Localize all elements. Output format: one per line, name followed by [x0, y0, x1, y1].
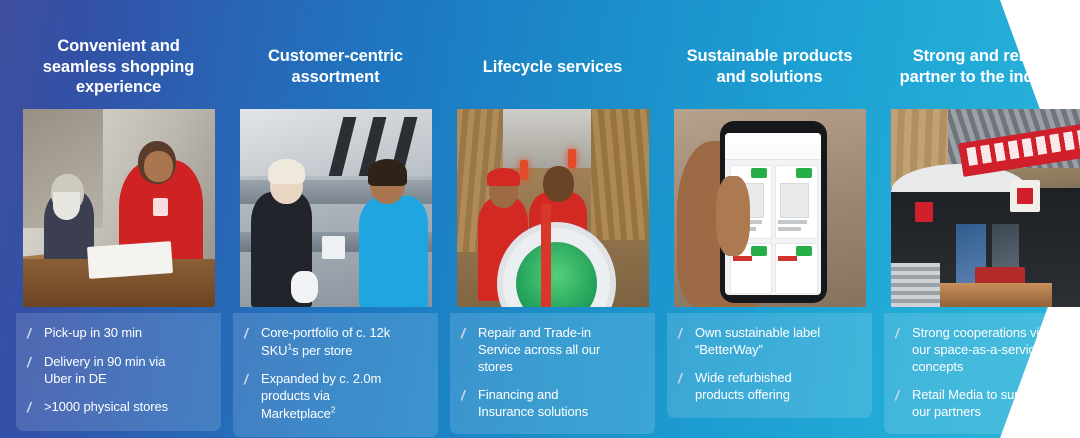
bullet-line: Own sustainable label — [695, 325, 820, 340]
column-title: Customer-centric assortment — [233, 25, 438, 109]
bullet-slash-icon: / — [892, 325, 912, 343]
bullet-slash-icon: / — [675, 370, 695, 388]
column-photo-store-entrance — [891, 109, 1080, 307]
bullet-panel: / Repair and Trade-in Service across all… — [450, 313, 655, 434]
photo-shape — [796, 246, 811, 256]
bullet-item: / Strong cooperations via our space-as-a… — [892, 325, 1079, 376]
bullet-item: / >1000 physical stores — [24, 399, 211, 417]
bullet-line: Retail Media to support — [912, 387, 1043, 402]
bullet-text: Strong cooperations via our space-as-a-s… — [912, 325, 1046, 376]
photo-shape — [520, 160, 528, 180]
bullet-panel: / Pick-up in 30 min / Delivery in 90 min… — [16, 313, 221, 431]
bullet-slash-icon: / — [458, 387, 478, 405]
bullet-text: Wide refurbished products offering — [695, 370, 792, 404]
bullet-text: Repair and Trade-in Service across all o… — [478, 325, 600, 376]
bullet-panel: / Own sustainable label “BetterWay” / Wi… — [667, 313, 872, 418]
photo-shape — [568, 149, 576, 169]
column-photo-shopping-counter — [23, 109, 215, 307]
bullet-line: Wide refurbished — [695, 370, 792, 385]
bullet-item: / Own sustainable label “BetterWay” — [675, 325, 862, 359]
bullet-slash-icon: / — [241, 371, 261, 389]
bullet-slash-icon: / — [458, 325, 478, 343]
bullet-text: Core-portfolio of c. 12k SKU1s per store — [261, 325, 390, 360]
bullet-item: / Financing and Insurance solutions — [458, 387, 645, 421]
bullet-item: / Pick-up in 30 min — [24, 325, 211, 343]
bullet-slash-icon: / — [892, 387, 912, 405]
bullet-line: Delivery in 90 min via — [44, 354, 165, 369]
bullet-line: >1000 physical stores — [44, 399, 168, 414]
column-title: Sustainable products and solutions — [667, 25, 872, 109]
bullet-line: Uber in DE — [44, 371, 107, 386]
bullet-line: Marketplace2 — [261, 406, 335, 421]
bullet-line: Service across all our — [478, 342, 600, 357]
bullet-slash-icon: / — [24, 399, 44, 417]
photo-shape — [53, 192, 80, 220]
bullet-line: Expanded by c. 2.0m — [261, 371, 381, 386]
bullet-item: / Retail Media to support our partners — [892, 387, 1079, 421]
bullet-line: stores — [478, 359, 513, 374]
photo-shape — [368, 159, 406, 187]
photo-shape — [291, 271, 318, 303]
slide-canvas: Convenient and seamless shopping experie… — [0, 0, 1080, 438]
column-sustainable-products: Sustainable products and solutions — [667, 0, 872, 418]
column-customer-centric-assortment: Customer-centric assortment — [233, 0, 438, 437]
bullet-panel: / Core-portfolio of c. 12k SKU1s per sto… — [233, 313, 438, 437]
bullet-text: Expanded by c. 2.0m products via Marketp… — [261, 371, 381, 423]
photo-shape — [541, 204, 551, 307]
photo-shape — [778, 227, 801, 231]
column-lifecycle-services: Lifecycle services — [450, 0, 655, 434]
photo-shape — [780, 183, 809, 217]
photo-shape — [268, 159, 304, 185]
photo-shape — [778, 256, 797, 261]
bullet-line: SKU1s per store — [261, 343, 352, 358]
bullet-text: Pick-up in 30 min — [44, 325, 142, 342]
photo-shape — [725, 144, 821, 160]
bullet-line: Strong cooperations via — [912, 325, 1046, 340]
bullet-text: Delivery in 90 min via Uber in DE — [44, 354, 165, 388]
bullet-text: Financing and Insurance solutions — [478, 387, 588, 421]
photo-shape — [153, 198, 168, 216]
bullet-line: products offering — [695, 387, 790, 402]
bullet-line: our partners — [912, 404, 981, 419]
bullet-item: / Core-portfolio of c. 12k SKU1s per sto… — [241, 325, 428, 360]
photo-shape — [1017, 188, 1032, 204]
column-photo-store-aisle — [240, 109, 432, 307]
column-title: Lifecycle services — [450, 25, 655, 109]
photo-shape — [543, 166, 574, 202]
photo-shape — [144, 151, 173, 183]
bullet-line: Insurance solutions — [478, 404, 588, 419]
photo-shape — [87, 241, 173, 278]
bullet-line: Financing and — [478, 387, 558, 402]
column-convenient-shopping: Convenient and seamless shopping experie… — [16, 0, 221, 431]
bullet-text: Own sustainable label “BetterWay” — [695, 325, 820, 359]
photo-shape — [487, 168, 520, 186]
photo-shape — [751, 246, 766, 256]
photo-shape — [716, 176, 751, 255]
photo-shape — [796, 168, 811, 178]
bullet-slash-icon: / — [675, 325, 695, 343]
bullet-line: products via — [261, 388, 330, 403]
photo-shape — [725, 133, 821, 144]
photo-shape — [359, 196, 428, 307]
column-title: Convenient and seamless shopping experie… — [16, 25, 221, 109]
photo-shape — [778, 220, 807, 224]
bullet-text: Retail Media to support our partners — [912, 387, 1043, 421]
bullet-line: Core-portfolio of c. 12k — [261, 325, 390, 340]
photo-shape — [940, 283, 1051, 307]
bullet-slash-icon: / — [24, 325, 44, 343]
photo-shape — [891, 263, 941, 307]
photo-shape — [591, 109, 649, 240]
column-strong-reliable-partner: Strong and reliable partner to the indus… — [884, 0, 1080, 434]
column-photo-repair-technicians — [457, 109, 649, 307]
photo-shape — [751, 168, 766, 178]
bullet-slash-icon: / — [241, 325, 261, 343]
bullet-item: / Delivery in 90 min via Uber in DE — [24, 354, 211, 388]
photo-shape — [915, 202, 932, 222]
bullet-text: >1000 physical stores — [44, 399, 168, 416]
bullet-item: / Repair and Trade-in Service across all… — [458, 325, 645, 376]
photo-shape — [322, 236, 345, 260]
bullet-item: / Wide refurbished products offering — [675, 370, 862, 404]
bullet-panel: / Strong cooperations via our space-as-a… — [884, 313, 1080, 434]
column-title: Strong and reliable partner to the indus… — [884, 25, 1080, 109]
bullet-slash-icon: / — [24, 354, 44, 372]
bullet-line: “BetterWay” — [695, 342, 763, 357]
bullet-line: our space-as-a-service — [912, 342, 1042, 357]
photo-shape — [733, 256, 752, 261]
bullet-line: Repair and Trade-in — [478, 325, 591, 340]
bullet-line: concepts — [912, 359, 963, 374]
bullet-item: / Expanded by c. 2.0m products via Marke… — [241, 371, 428, 423]
columns-container: Convenient and seamless shopping experie… — [0, 0, 1080, 438]
bullet-line: Pick-up in 30 min — [44, 325, 142, 340]
column-photo-phone-app — [674, 109, 866, 307]
